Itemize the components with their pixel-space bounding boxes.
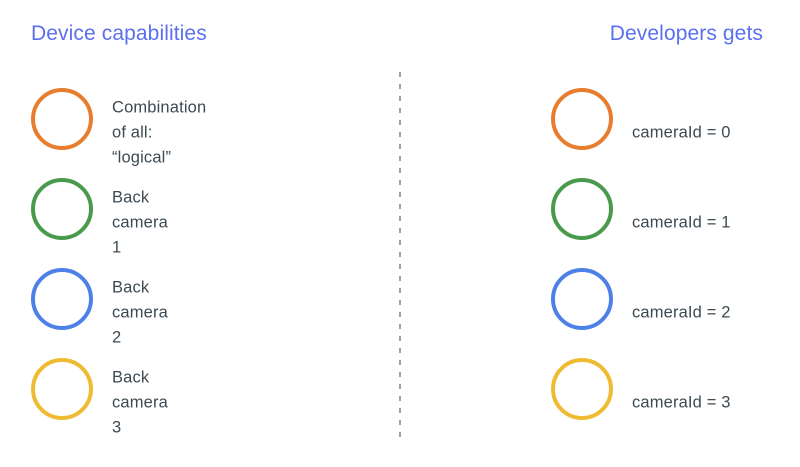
camera-circle-icon-green: [31, 178, 93, 240]
capability-row-label: Combination of all: “logical”: [112, 96, 206, 171]
vertical-dashed-divider: [399, 72, 401, 438]
capability-row-label: Back camera 3: [112, 366, 168, 441]
camera-id-row-label: cameraId = 3: [632, 391, 731, 416]
camera-circle-icon-orange: [31, 88, 93, 150]
camera-circle-icon-orange: [551, 88, 613, 150]
capability-row-label: Back camera 1: [112, 186, 168, 261]
diagram-canvas: Device capabilities Developers gets Comb…: [0, 0, 800, 467]
camera-circle-icon-yellow: [31, 358, 93, 420]
camera-id-row-label: cameraId = 2: [632, 301, 731, 326]
left-column-heading: Device capabilities: [31, 23, 207, 44]
right-column-heading: Developers gets: [610, 23, 763, 44]
camera-circle-icon-blue: [551, 268, 613, 330]
camera-id-row-label: cameraId = 0: [632, 121, 731, 146]
camera-circle-icon-yellow: [551, 358, 613, 420]
camera-circle-icon-green: [551, 178, 613, 240]
camera-circle-icon-blue: [31, 268, 93, 330]
capability-row-label: Back camera 2: [112, 276, 168, 351]
camera-id-row-label: cameraId = 1: [632, 211, 731, 236]
